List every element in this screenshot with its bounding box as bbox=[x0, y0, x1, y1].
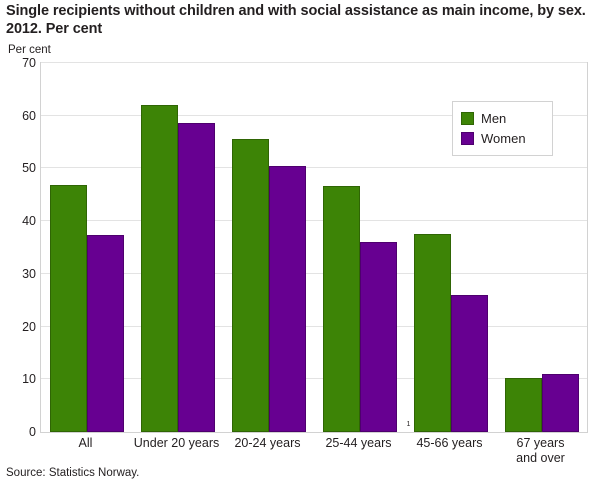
x-tick-label: 20-24 years bbox=[222, 436, 313, 451]
legend-item-women: Women bbox=[461, 128, 544, 148]
chart-title: Single recipients without children and w… bbox=[6, 2, 602, 38]
y-tick-label-10: 10 bbox=[2, 372, 36, 386]
bar-women[interactable] bbox=[269, 166, 306, 432]
bar-men[interactable] bbox=[50, 185, 87, 432]
bar-men[interactable] bbox=[414, 234, 451, 432]
bar-women[interactable] bbox=[360, 242, 397, 432]
y-tick-label-60: 60 bbox=[2, 109, 36, 123]
y-tick-label-50: 50 bbox=[2, 161, 36, 175]
bar-women[interactable] bbox=[542, 374, 579, 432]
bar-women[interactable] bbox=[451, 295, 488, 432]
y-tick-label-30: 30 bbox=[2, 267, 36, 281]
x-tick-label: 25-44 years bbox=[313, 436, 404, 451]
bar-men[interactable] bbox=[232, 139, 269, 432]
bar-women[interactable] bbox=[87, 235, 124, 432]
y-tick-label-70: 70 bbox=[2, 56, 36, 70]
bar-group bbox=[50, 63, 124, 432]
legend-swatch-men-icon bbox=[461, 112, 474, 125]
bar-men[interactable] bbox=[323, 186, 360, 432]
x-tick-label: All bbox=[40, 436, 131, 451]
bar-women[interactable] bbox=[178, 123, 215, 432]
legend-label-women: Women bbox=[481, 131, 526, 146]
bar-group bbox=[232, 63, 306, 432]
x-tick-label: 67 yearsand over bbox=[495, 436, 586, 466]
y-axis-tick-labels: 010203040506070 bbox=[0, 62, 36, 433]
legend-label-men: Men bbox=[481, 111, 506, 126]
legend-item-men: Men bbox=[461, 108, 544, 128]
chart-legend: Men Women bbox=[452, 101, 553, 156]
footnote-marker: 1 bbox=[407, 421, 411, 428]
legend-swatch-women-icon bbox=[461, 132, 474, 145]
bar-group bbox=[141, 63, 215, 432]
source-note: Source: Statistics Norway. bbox=[6, 467, 139, 479]
bar-group bbox=[323, 63, 397, 432]
y-tick-label-40: 40 bbox=[2, 214, 36, 228]
bar-men[interactable] bbox=[141, 105, 178, 432]
bar-men[interactable] bbox=[505, 378, 542, 432]
x-tick-label: Under 20 years bbox=[131, 436, 222, 451]
y-tick-label-0: 0 bbox=[2, 425, 36, 439]
x-tick-label: 45-66 years bbox=[404, 436, 495, 451]
y-tick-label-20: 20 bbox=[2, 320, 36, 334]
y-axis-unit-label: Per cent bbox=[8, 44, 51, 56]
